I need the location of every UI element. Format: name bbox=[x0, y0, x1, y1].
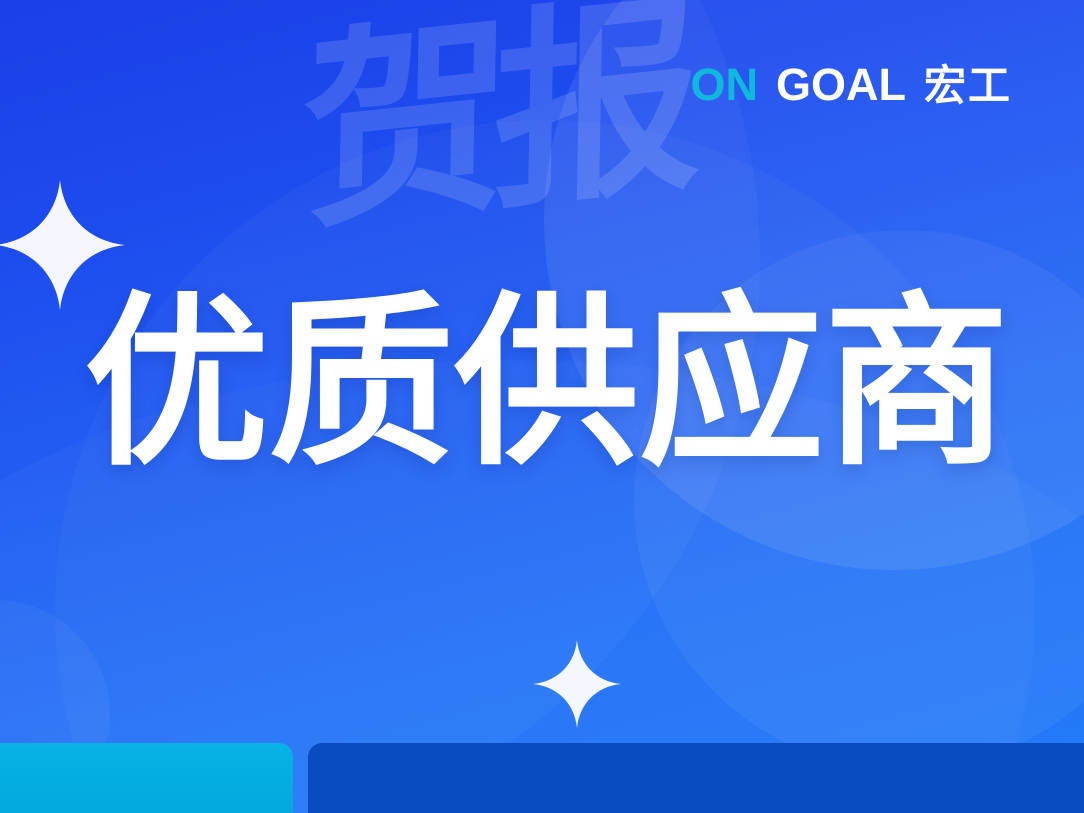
page-title: 优质供应商 bbox=[84, 292, 1009, 477]
poster-canvas: 贺报 ONGOAL 宏工 优质供应商 bbox=[0, 0, 1084, 813]
bottom-bar-left bbox=[0, 743, 293, 813]
bottom-bar-right bbox=[308, 743, 1084, 813]
logo-text-goal: GOAL bbox=[776, 62, 906, 107]
brand-logo: ONGOAL 宏工 bbox=[690, 62, 1012, 107]
logo-text-on: ON bbox=[690, 62, 758, 107]
logo-text-cn: 宏工 bbox=[924, 65, 1012, 107]
sparkle-icon-small bbox=[533, 640, 621, 728]
